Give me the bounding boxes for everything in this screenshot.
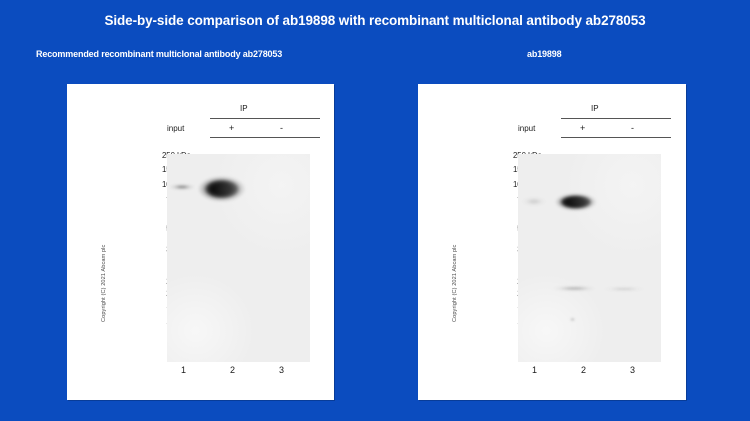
lane-number-2-right: 2: [581, 365, 586, 375]
input-label-right: input: [518, 124, 535, 133]
ip-minus-label-left: -: [280, 123, 283, 133]
band-15kda-lane2-right: [569, 317, 576, 322]
band-25kda-lane3-right: [604, 287, 644, 291]
blot-panel-left: Copyright (C) 2021 Abcam plc IP input + …: [67, 84, 334, 400]
lane-numbers-right: 1 2 3: [518, 365, 661, 379]
lane-header-left: IP input + -: [167, 104, 327, 152]
band-25kda-lane2-right: [552, 286, 596, 291]
blot-membrane-right: [518, 154, 661, 362]
slide-canvas: Side-by-side comparison of ab19898 with …: [0, 0, 750, 421]
lane-header-right: IP input + -: [518, 104, 678, 152]
blot-membrane-left: [167, 154, 310, 362]
blot-figure-left: Copyright (C) 2021 Abcam plc IP input + …: [67, 84, 334, 400]
lane-numbers-left: 1 2 3: [167, 365, 310, 379]
lane-number-1-left: 1: [181, 365, 186, 375]
lane-number-3-left: 3: [279, 365, 284, 375]
ip-label-left: IP: [240, 104, 248, 113]
band-main-lane2-left: [198, 176, 246, 202]
page-title: Side-by-side comparison of ab19898 with …: [0, 13, 750, 28]
ip-rule-top-left: [210, 118, 320, 119]
ip-minus-label-right: -: [631, 123, 634, 133]
lane-number-1-right: 1: [532, 365, 537, 375]
ip-plus-label-left: +: [229, 123, 234, 133]
blot-figure-right: Copyright (C) 2021 Abcam plc IP input + …: [418, 84, 686, 400]
input-label-left: input: [167, 124, 184, 133]
lane-number-2-left: 2: [230, 365, 235, 375]
band-input-lane1-right: [522, 198, 546, 205]
panel-subtitle-right: ab19898: [527, 49, 561, 59]
blot-panel-right: Copyright (C) 2021 Abcam plc IP input + …: [418, 84, 686, 400]
ip-label-right: IP: [591, 104, 599, 113]
panel-subtitle-left: Recommended recombinant multiclonal anti…: [36, 49, 282, 59]
ip-rule-top-right: [561, 118, 671, 119]
ip-rule-bottom-left: [210, 137, 320, 138]
lane-number-3-right: 3: [630, 365, 635, 375]
ip-rule-bottom-right: [561, 137, 671, 138]
ip-plus-label-right: +: [580, 123, 585, 133]
band-main-lane2-right: [555, 193, 597, 211]
band-input-lane1-left: [169, 184, 195, 190]
